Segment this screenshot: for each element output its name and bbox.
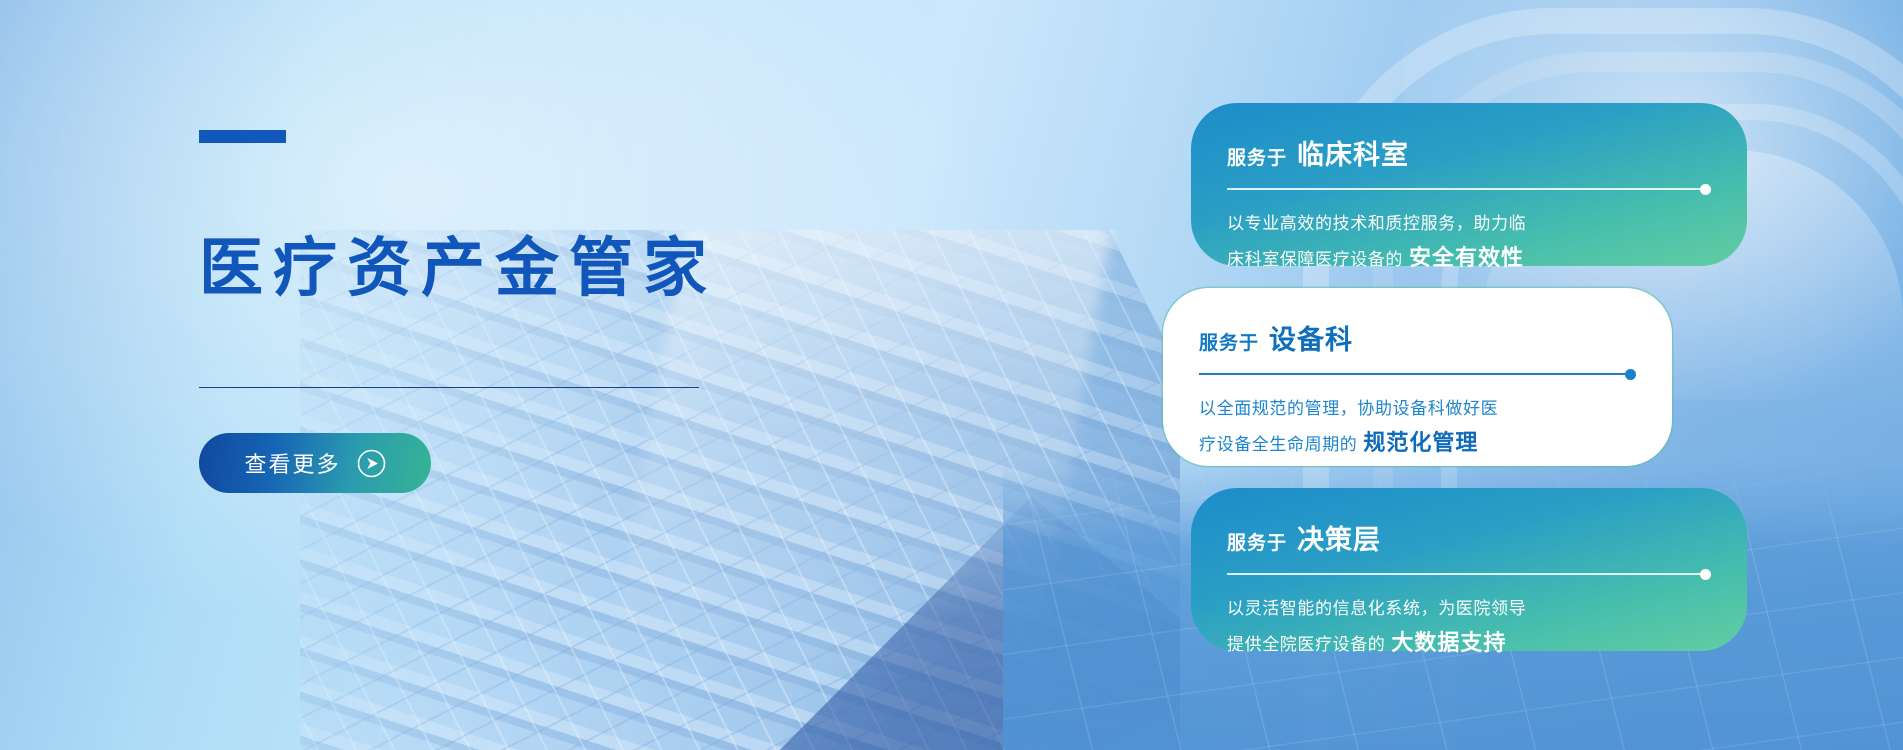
card-rule-dot <box>1700 184 1711 195</box>
card-heading: 服务于 临床科室 <box>1227 133 1711 172</box>
divider <box>199 387 699 388</box>
building-facade-edge <box>730 470 1180 750</box>
service-card-clinical[interactable]: 服务于 临床科室 以专业高效的技术和质控服务，助力临 床科室保障医疗设备的安全有… <box>1191 103 1747 266</box>
view-more-button[interactable]: 查看更多 <box>199 433 431 493</box>
card-body: 以专业高效的技术和质控服务，助力临 床科室保障医疗设备的安全有效性 <box>1227 209 1711 277</box>
card-rule-line <box>1227 188 1703 190</box>
page-title: 医疗资产金管家 <box>199 233 819 303</box>
card-heading-prefix: 服务于 <box>1227 528 1287 555</box>
card-rule-line <box>1199 373 1628 375</box>
hero-text-block: 医疗资产金管家 查看更多 <box>199 130 819 493</box>
service-card-decision[interactable]: 服务于 决策层 以灵活智能的信息化系统，为医院领导 提供全院医疗设备的大数据支持 <box>1191 488 1747 651</box>
hero-banner: 医疗资产金管家 查看更多 服务于 临床科室 以专业高效的技 <box>0 0 1903 750</box>
card-body-line-2-text: 疗设备全生命周期的 <box>1199 435 1357 454</box>
card-rule <box>1199 369 1636 378</box>
card-body-line-2: 床科室保障医疗设备的安全有效性 <box>1227 239 1711 278</box>
card-heading-target: 临床科室 <box>1297 133 1409 172</box>
card-body-highlight: 大数据支持 <box>1391 630 1506 655</box>
arrow-right-circle-icon <box>357 449 386 478</box>
card-rule-dot <box>1625 369 1636 380</box>
card-rule-dot <box>1700 569 1711 580</box>
card-heading: 服务于 设备科 <box>1199 318 1636 357</box>
card-body: 以全面规范的管理，协助设备科做好医 疗设备全生命周期的规范化管理 <box>1199 394 1636 462</box>
card-body-line-1: 以专业高效的技术和质控服务，助力临 <box>1227 209 1711 239</box>
card-body-line-2-text: 床科室保障医疗设备的 <box>1227 250 1403 269</box>
card-body-line-2-text: 提供全院医疗设备的 <box>1227 635 1385 654</box>
card-heading-prefix: 服务于 <box>1199 328 1259 355</box>
card-body-line-2: 疗设备全生命周期的规范化管理 <box>1199 424 1636 463</box>
view-more-label: 查看更多 <box>244 447 340 479</box>
card-heading: 服务于 决策层 <box>1227 518 1711 557</box>
card-heading-target: 设备科 <box>1269 318 1353 357</box>
card-rule <box>1227 184 1711 193</box>
service-card-list: 服务于 临床科室 以专业高效的技术和质控服务，助力临 床科室保障医疗设备的安全有… <box>1163 0 1783 750</box>
card-heading-target: 决策层 <box>1297 518 1381 557</box>
card-body-highlight: 规范化管理 <box>1363 430 1478 455</box>
card-body-highlight: 安全有效性 <box>1409 245 1524 270</box>
accent-dash <box>199 130 286 143</box>
card-heading-prefix: 服务于 <box>1227 143 1287 170</box>
card-rule-line <box>1227 573 1703 575</box>
card-rule <box>1227 569 1711 578</box>
card-body-line-1: 以全面规范的管理，协助设备科做好医 <box>1199 394 1636 424</box>
card-body-line-2: 提供全院医疗设备的大数据支持 <box>1227 624 1711 663</box>
service-card-equipment[interactable]: 服务于 设备科 以全面规范的管理，协助设备科做好医 疗设备全生命周期的规范化管理 <box>1163 288 1672 466</box>
card-body-line-1: 以灵活智能的信息化系统，为医院领导 <box>1227 594 1711 624</box>
card-body: 以灵活智能的信息化系统，为医院领导 提供全院医疗设备的大数据支持 <box>1227 594 1711 662</box>
